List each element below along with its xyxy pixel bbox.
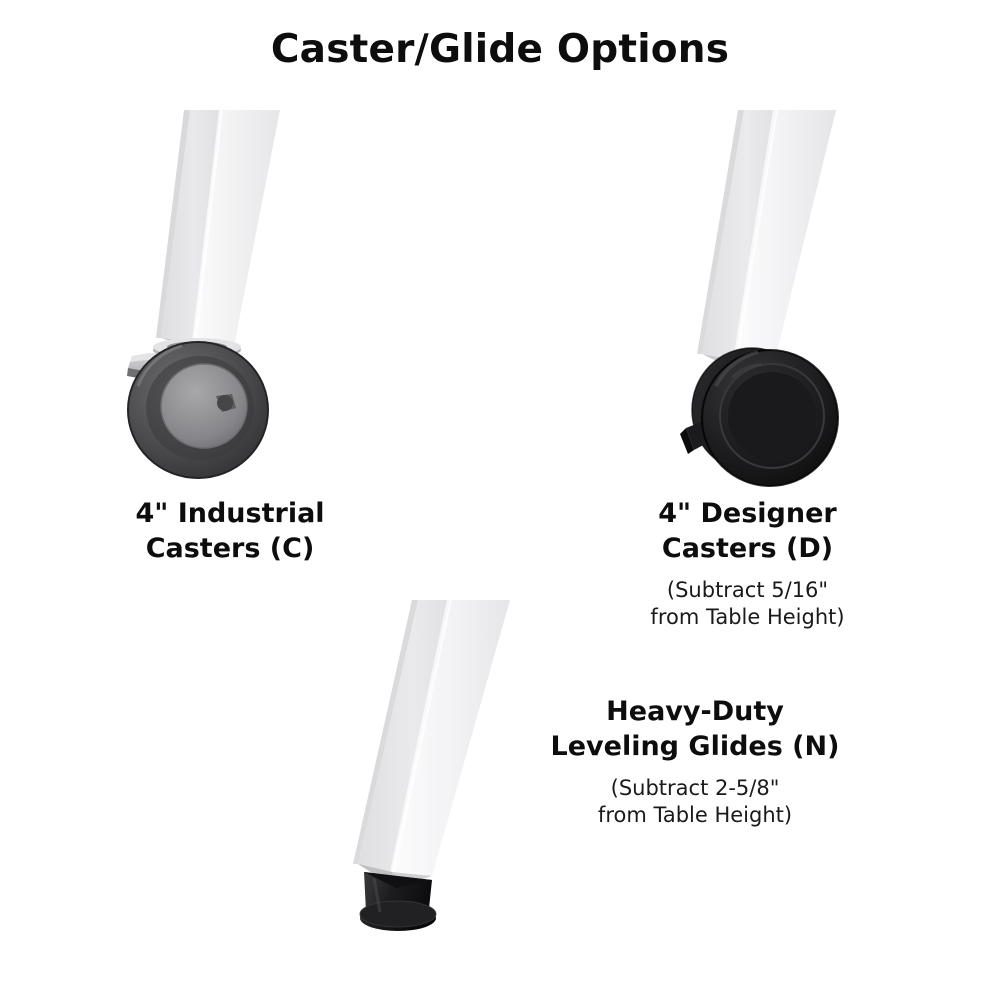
caption-title-glides: Heavy-Duty Leveling Glides (N) <box>495 694 895 764</box>
caption-note-glides: (Subtract 2-5/8" from Table Height) <box>495 775 895 830</box>
industrial-caster-illustration <box>120 110 360 480</box>
designer-caster-svg <box>640 110 880 490</box>
industrial-caster-svg <box>120 110 360 480</box>
table-leg <box>697 110 836 372</box>
caster-glide-options-page: Caster/Glide Options <box>0 0 1000 1000</box>
designer-caster-front-wheel <box>702 350 838 486</box>
caption-title-industrial: 4" Industrial Casters (C) <box>45 496 415 566</box>
page-title: Caster/Glide Options <box>0 28 1000 73</box>
caster-wheel <box>128 342 268 478</box>
caption-title-designer: 4" Designer Casters (D) <box>560 496 935 566</box>
caption-industrial-casters: 4" Industrial Casters (C) <box>45 496 415 566</box>
table-leg <box>156 110 280 350</box>
caption-designer-casters: 4" Designer Casters (D) (Subtract 5/16" … <box>560 496 935 632</box>
designer-caster-illustration <box>640 110 880 490</box>
leveling-glide-foot <box>360 872 436 931</box>
caption-note-designer: (Subtract 5/16" from Table Height) <box>560 577 935 632</box>
table-leg <box>353 600 510 888</box>
caption-leveling-glides: Heavy-Duty Leveling Glides (N) (Subtract… <box>495 694 895 830</box>
